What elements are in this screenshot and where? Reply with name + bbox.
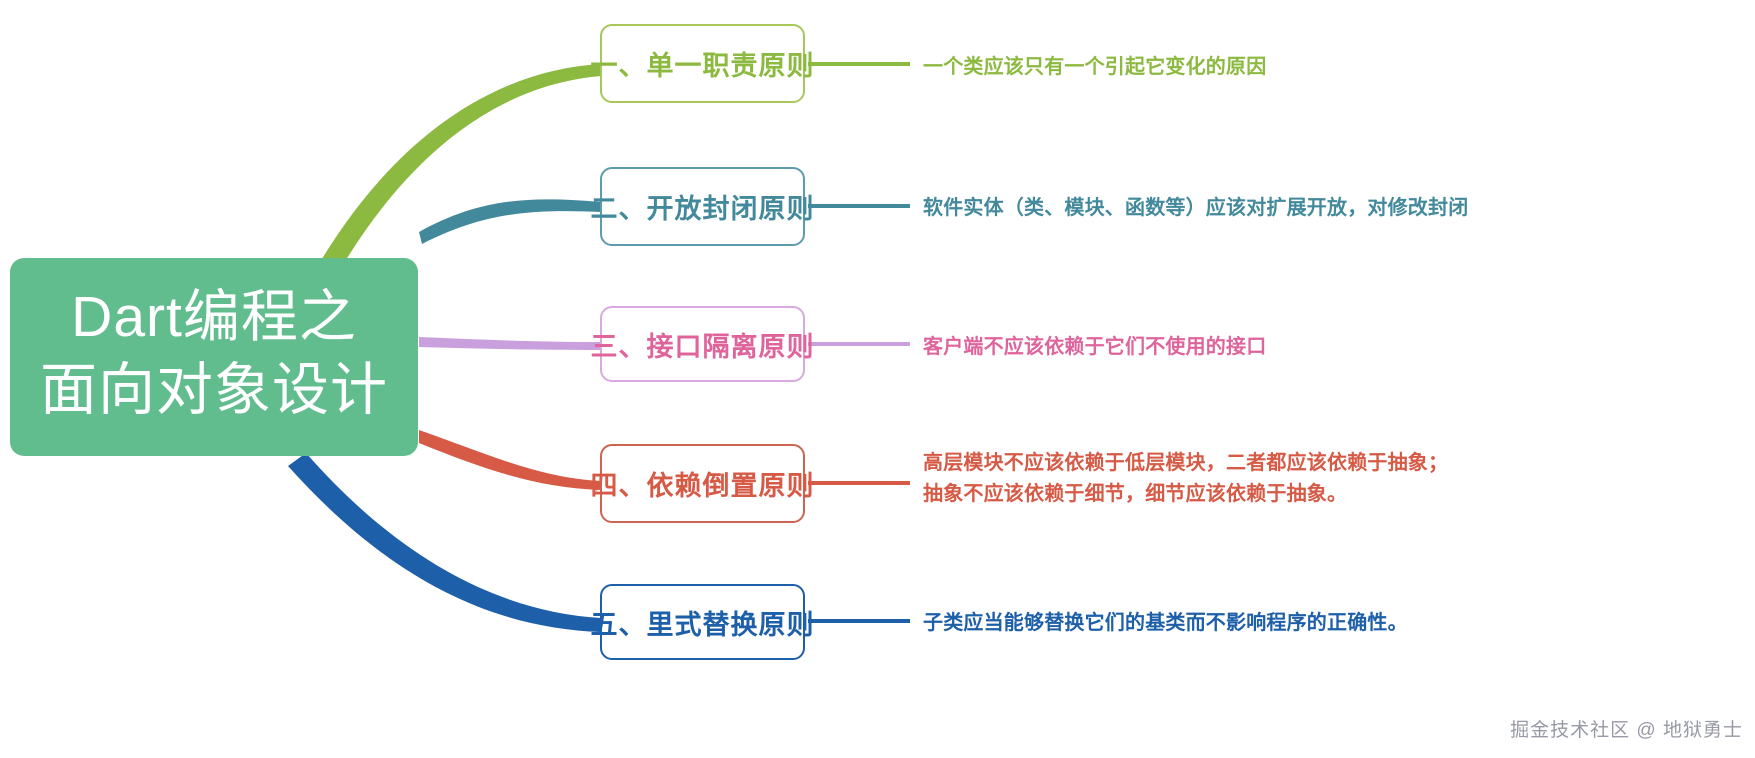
branch-desc-isp: 客户端不应该依赖于它们不使用的接口 — [923, 332, 1266, 363]
connector-curve-isp — [419, 337, 601, 350]
branch-desc-ocp: 软件实体（类、模块、函数等）应该对扩展开放，对修改封闭 — [923, 193, 1468, 224]
root-node-label: Dart编程之 面向对象设计 — [40, 281, 388, 427]
branch-node-lsp-label: 五、里式替换原则 — [591, 603, 815, 642]
branch-node-srp-label: 一、单一职责原则 — [591, 44, 815, 83]
connector-curve-ocp — [419, 199, 601, 244]
branch-node-ocp[interactable]: 二、开放封闭原则 — [600, 167, 805, 246]
branch-node-dip[interactable]: 四、依赖倒置原则 — [600, 444, 805, 523]
branch-desc-lsp: 子类应当能够替换它们的基类而不影响程序的正确性。 — [923, 608, 1408, 639]
root-node[interactable]: Dart编程之 面向对象设计 — [10, 258, 418, 456]
branch-node-isp[interactable]: 三、接口隔离原则 — [600, 306, 805, 382]
connector-curve-srp — [320, 64, 601, 268]
branch-node-srp[interactable]: 一、单一职责原则 — [600, 24, 805, 103]
branch-node-isp-label: 三、接口隔离原则 — [591, 325, 815, 364]
branch-node-lsp[interactable]: 五、里式替换原则 — [600, 584, 805, 660]
branch-node-dip-label: 四、依赖倒置原则 — [591, 464, 815, 503]
watermark-text: 掘金技术社区 @ 地狱勇士 — [1510, 715, 1743, 742]
connector-curve-dip — [419, 430, 601, 490]
connector-curve-lsp — [288, 453, 601, 632]
branch-node-ocp-label: 二、开放封闭原则 — [591, 187, 815, 226]
branch-desc-srp: 一个类应该只有一个引起它变化的原因 — [923, 52, 1266, 83]
mindmap-canvas: Dart编程之 面向对象设计 一、单一职责原则 一个类应该只有一个引起它变化的原… — [0, 0, 1755, 758]
branch-desc-dip: 高层模块不应该依赖于低层模块，二者都应该依赖于抽象； 抽象不应该依赖于细节，细节… — [923, 448, 1448, 510]
